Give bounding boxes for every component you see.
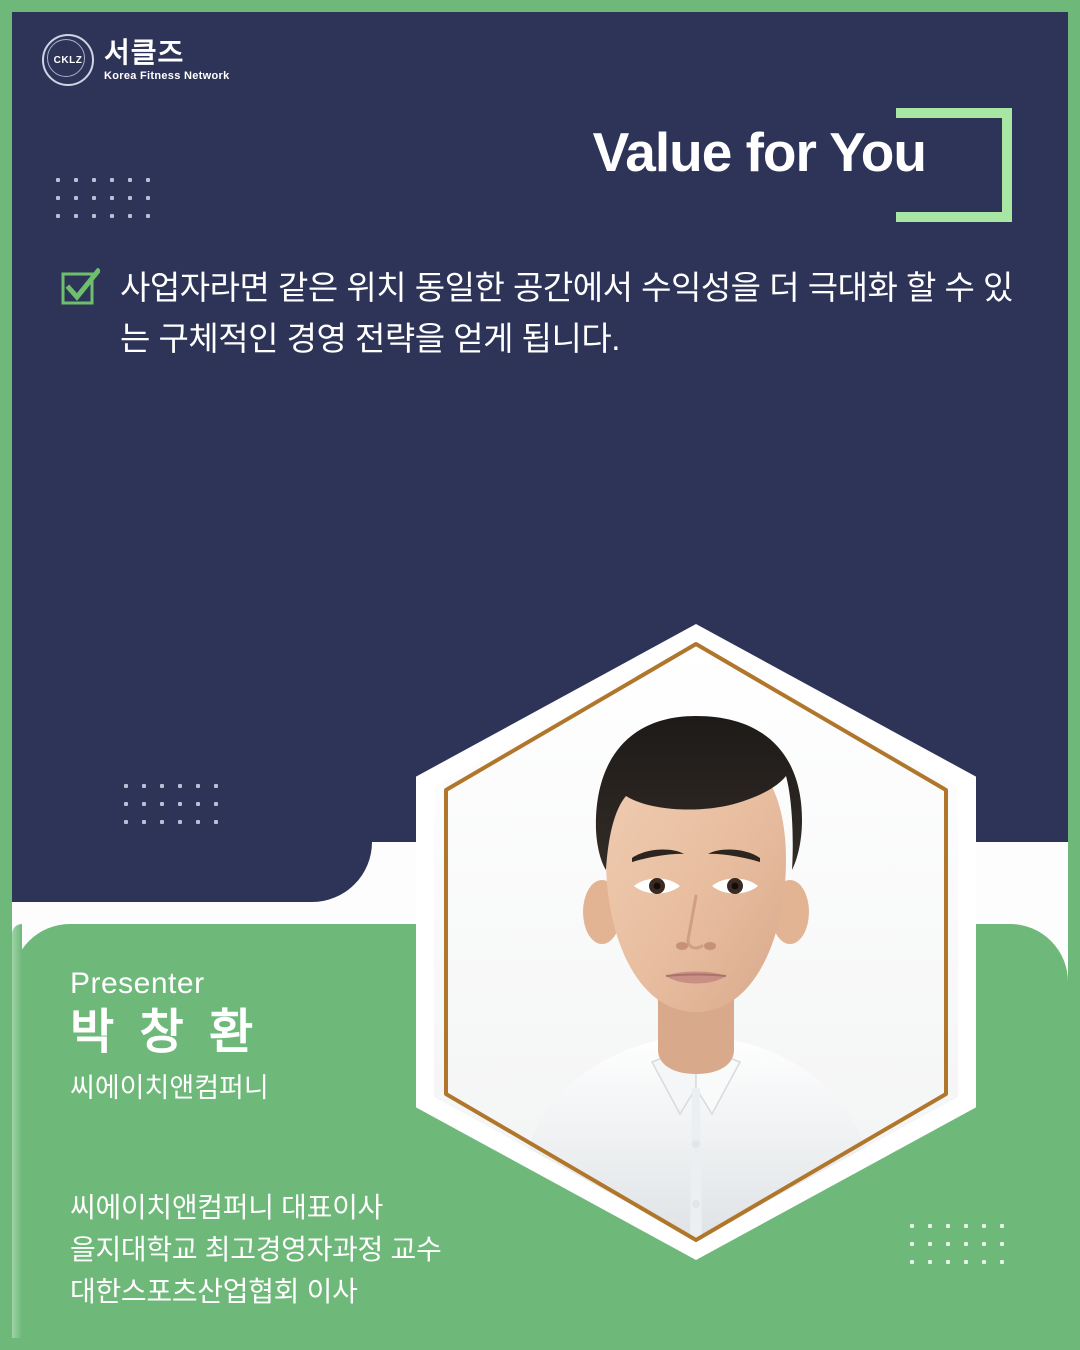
checkbox-checked-icon [60, 268, 100, 308]
logo-wordmark: 서클즈 Korea Fitness Network [104, 39, 230, 82]
presenter-organization: 씨에이치앤컴퍼니 [70, 1066, 490, 1105]
logo-mark-label: CKLZ [54, 55, 83, 66]
presenter-label: Presenter [70, 967, 490, 1001]
corner-bracket-decoration [896, 108, 1012, 222]
credential-item: 대한스포츠산업협회 이사 [70, 1271, 630, 1313]
dot-grid-decoration-middle [124, 784, 218, 824]
navy-lower-extension [12, 12, 372, 902]
poster-canvas: CKLZ 서클즈 Korea Fitness Network Value for… [12, 12, 1068, 1338]
credential-item: 을지대학교 최고경영자과정 교수 [70, 1229, 630, 1271]
logo-tagline: Korea Fitness Network [104, 70, 230, 82]
hexagon-bronze-outline [428, 638, 964, 1246]
presenter-info: Presenter 박 창 환 씨에이치앤컴퍼니 [70, 967, 490, 1105]
dot-grid-decoration-top [56, 178, 150, 218]
cklz-circle-icon: CKLZ [42, 34, 94, 86]
presenter-portrait-frame [416, 624, 976, 1260]
presenter-name: 박 창 환 [70, 1005, 490, 1060]
page-title: Value for You [593, 120, 926, 184]
value-statement-text: 사업자라면 같은 위치 동일한 공간에서 수익성을 더 극대화 할 수 있는 구… [120, 262, 1020, 364]
logo-name-korean: 서클즈 [104, 39, 230, 67]
value-statement: 사업자라면 같은 위치 동일한 공간에서 수익성을 더 극대화 할 수 있는 구… [60, 262, 1020, 364]
brand-logo[interactable]: CKLZ 서클즈 Korea Fitness Network [42, 34, 230, 86]
presenter-credentials: 씨에이치앤컴퍼니 대표이사 을지대학교 최고경영자과정 교수 대한스포츠산업협회… [70, 1187, 630, 1313]
credential-item: 씨에이치앤컴퍼니 대표이사 [70, 1187, 630, 1229]
poster-card: CKLZ 서클즈 Korea Fitness Network Value for… [0, 0, 1080, 1350]
